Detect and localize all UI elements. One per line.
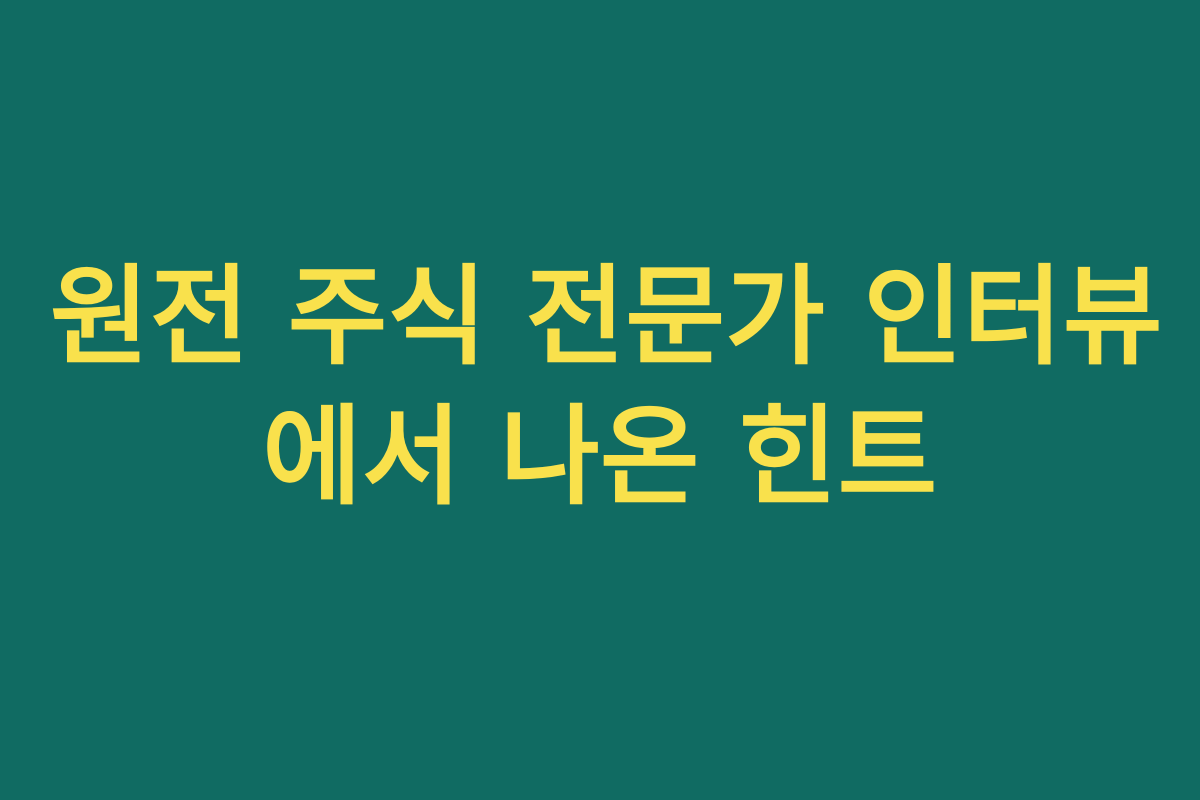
- headline-block: 원전 주식 전문가 인터뷰 에서 나온 힌트: [50, 248, 1150, 528]
- headline-line-2: 에서 나온 힌트: [50, 388, 1150, 528]
- headline-line-1: 원전 주식 전문가 인터뷰: [50, 248, 1150, 388]
- thumbnail-card: 원전 주식 전문가 인터뷰 에서 나온 힌트: [0, 0, 1200, 800]
